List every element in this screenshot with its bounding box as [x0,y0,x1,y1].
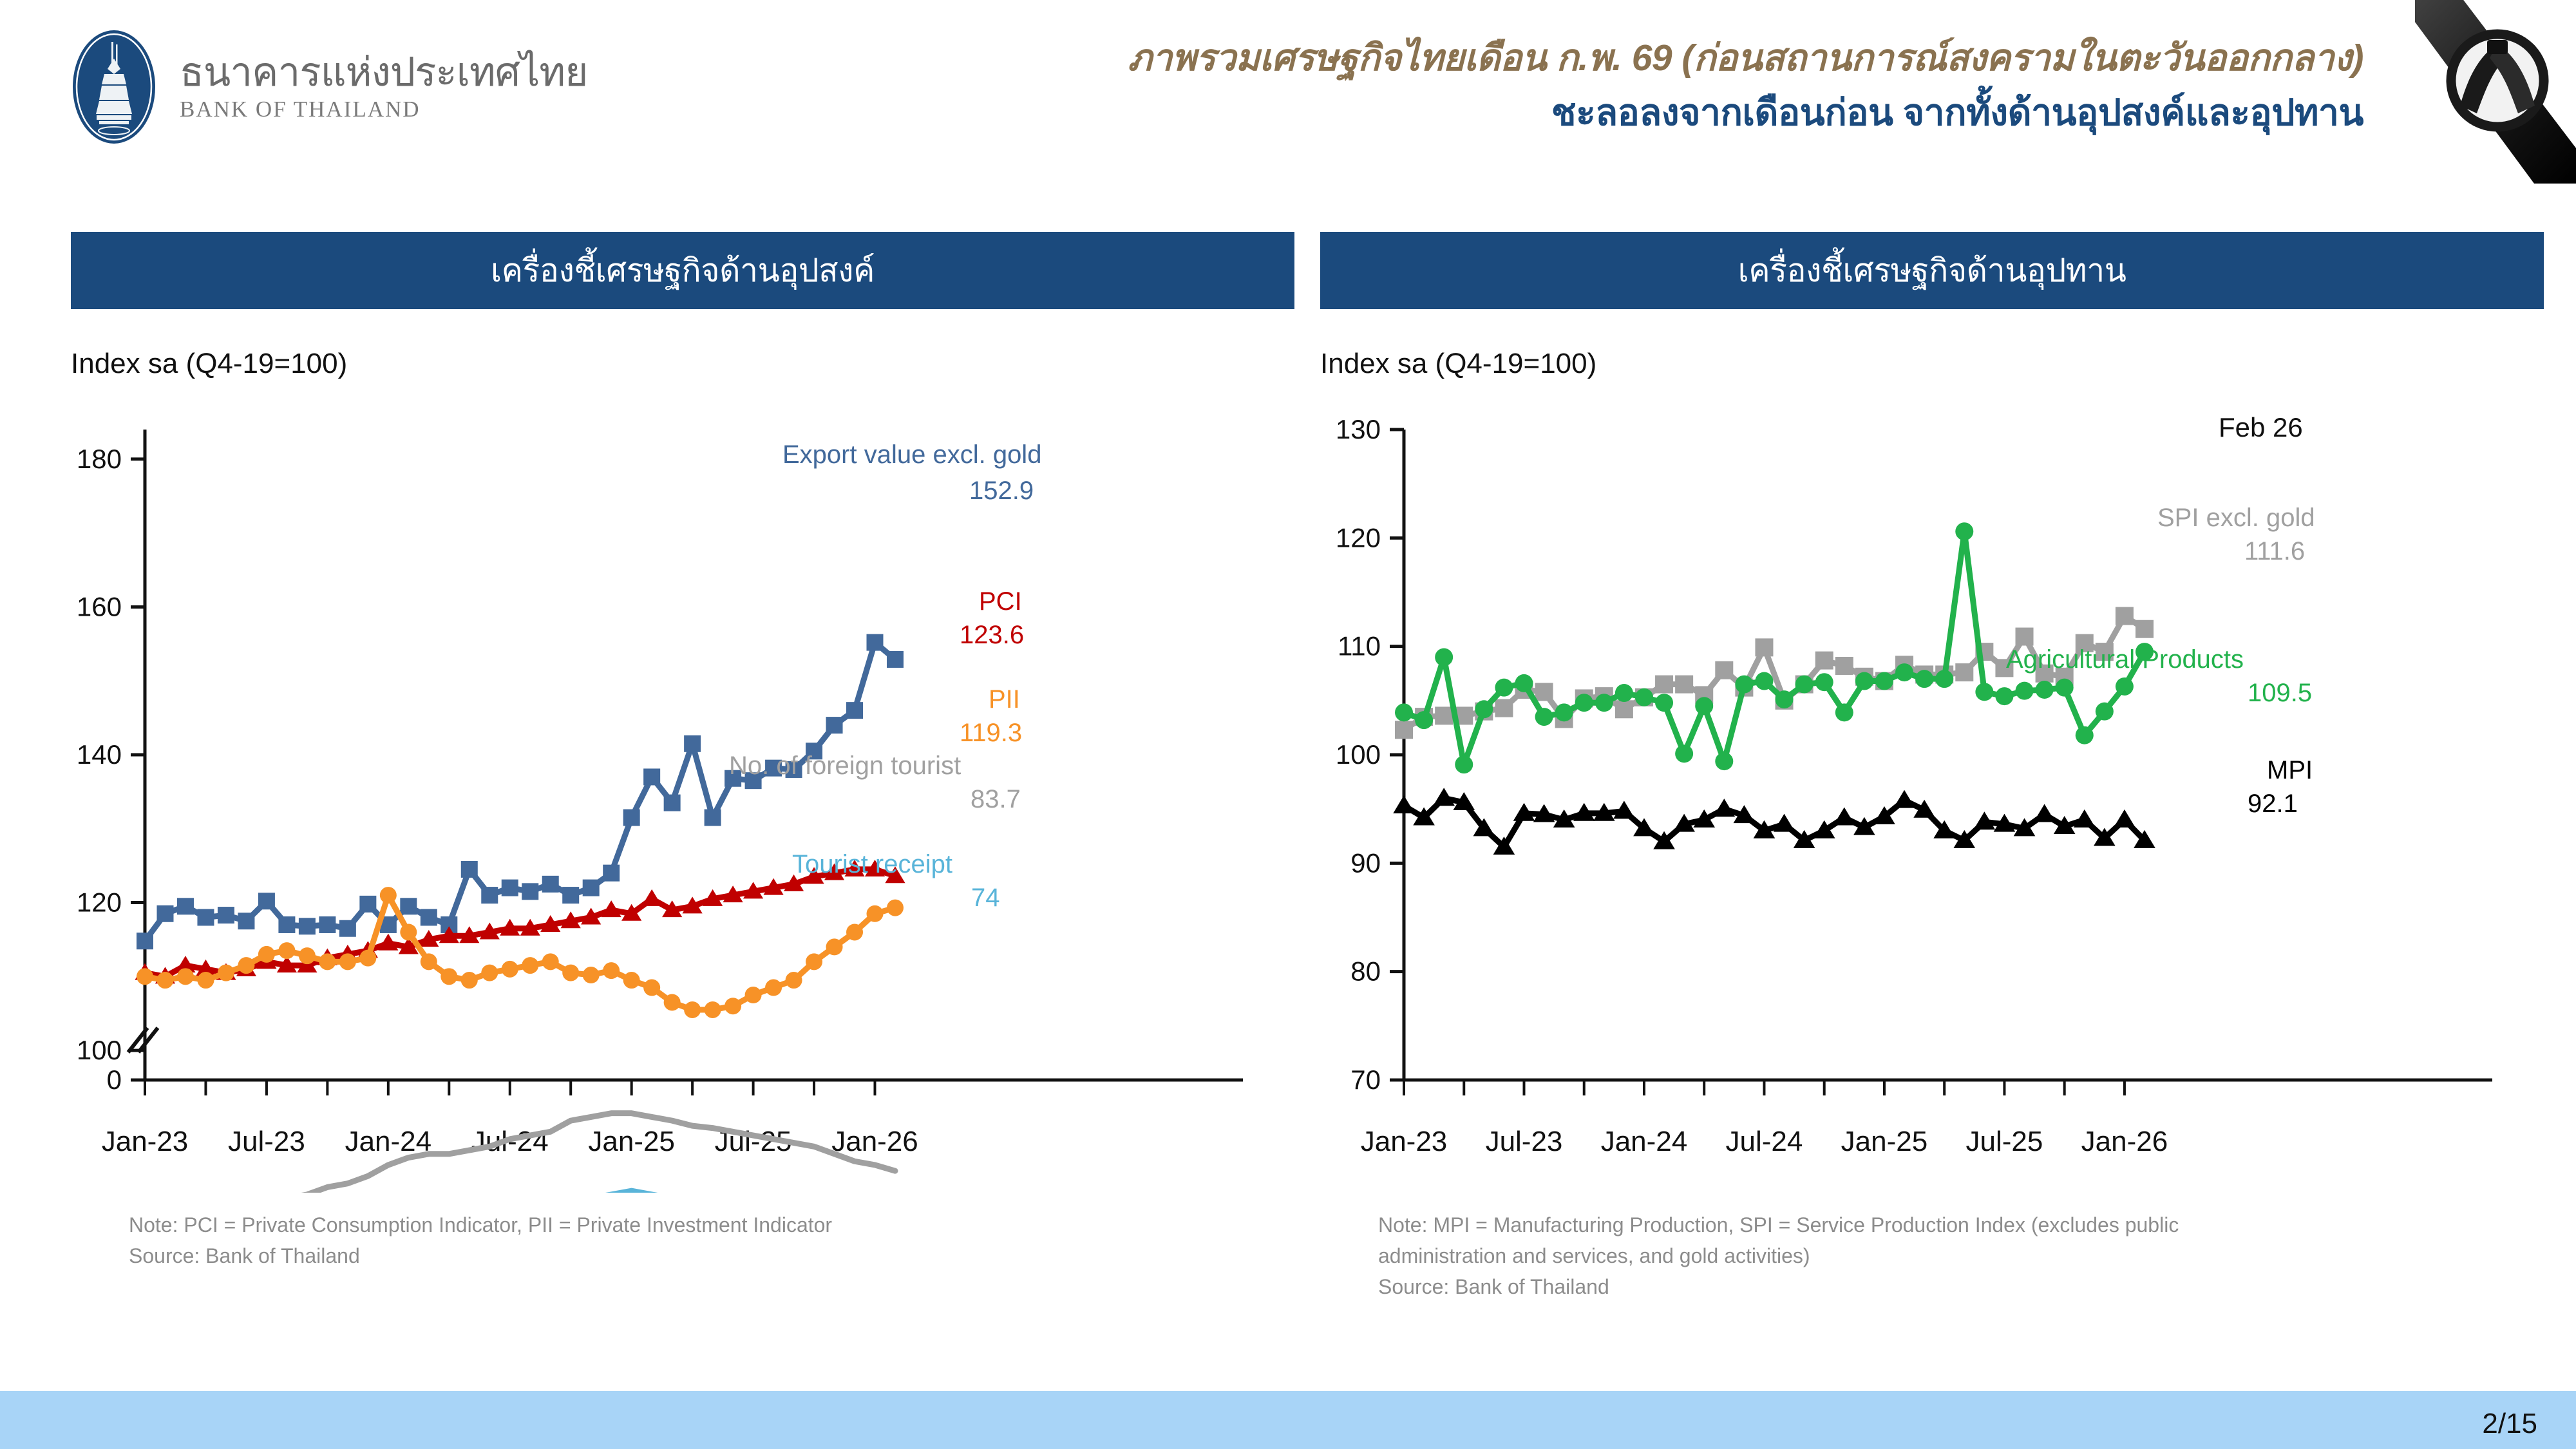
source-line: Source: Bank of Thailand [129,1240,1294,1271]
axis-unit-supply: Index sa (Q4-19=100) [1320,348,2544,380]
series-value-tourist-count: 83.7 [971,785,1021,814]
page-header: ธนาคารแห่งประเทศไทย BANK OF THAILAND ภาพ… [0,0,2576,193]
svg-text:180: 180 [77,444,122,474]
panel-banner-demand: เครื่องชี้เศรษฐกิจด้านอุปสงค์ [71,232,1294,309]
bank-of-thailand-seal-icon [71,29,158,145]
axis-unit-demand: Index sa (Q4-19=100) [71,348,1294,380]
svg-text:Jul-23: Jul-23 [228,1126,305,1157]
svg-text:Jan-24: Jan-24 [345,1126,432,1157]
title-line-1: ภาพรวมเศรษฐกิจไทยเดือน ก.พ. 69 (ก่อนสถาน… [753,35,2363,81]
panel-demand-side: เครื่องชี้เศรษฐกิจด้านอุปสงค์ Index sa (… [71,232,1294,1391]
panel-supply-side: เครื่องชี้เศรษฐกิจด้านอุปทาน Index sa (Q… [1320,232,2544,1391]
svg-text:110: 110 [1338,631,1381,661]
svg-text:100: 100 [1336,739,1381,770]
page-number: 2/15 [2482,1408,2537,1440]
svg-text:90: 90 [1350,848,1381,878]
svg-text:Jan-24: Jan-24 [1601,1126,1688,1157]
notes-supply: Note: MPI = Manufacturing Production, SP… [1378,1209,2544,1302]
series-label-pii: PII [989,685,1020,714]
notes-demand: Note: PCI = Private Consumption Indicato… [129,1209,1294,1271]
series-value-agri: 109.5 [2248,679,2312,708]
source-line: Source: Bank of Thailand [1378,1271,2544,1302]
note-line: Note: PCI = Private Consumption Indicato… [129,1209,1294,1240]
panel-banner-supply: เครื่องชี้เศรษฐกิจด้านอุปทาน [1320,232,2544,309]
series-value-mpi: 92.1 [2248,790,2298,819]
note-line-cont: administration and services, and gold ac… [1378,1240,2544,1271]
svg-text:0: 0 [107,1065,122,1095]
svg-text:130: 130 [1336,414,1381,444]
svg-text:Jul-23: Jul-23 [1486,1126,1563,1157]
svg-text:160: 160 [77,591,122,621]
svg-text:100: 100 [77,1035,122,1065]
svg-text:140: 140 [77,739,122,770]
series-value-pci: 123.6 [960,621,1024,650]
svg-text:Jan-23: Jan-23 [1361,1126,1448,1157]
svg-text:120: 120 [77,887,122,918]
latest-period-supply: Feb 26 [2219,412,2303,443]
svg-text:120: 120 [1336,522,1381,553]
note-line: Note: MPI = Manufacturing Production, SP… [1378,1209,2544,1240]
svg-text:Jan-25: Jan-25 [1841,1126,1928,1157]
series-value-export: 152.9 [969,477,1034,506]
chart-supply-side: 708090100110120130Jan-23Jul-23Jan-24Jul-… [1320,394,2505,1193]
svg-text:Jul-25: Jul-25 [1966,1126,2043,1157]
svg-text:70: 70 [1350,1065,1381,1095]
logo-thai-text: ธนาคารแห่งประเทศไทย [180,52,587,93]
svg-text:Jan-26: Jan-26 [831,1126,918,1157]
footer-bar: 2/15 [0,1391,2576,1449]
svg-text:80: 80 [1350,956,1381,987]
series-label-export: Export value excl. gold [782,440,1041,469]
bank-logo: ธนาคารแห่งประเทศไทย BANK OF THAILAND [71,29,587,145]
svg-text:Jan-23: Jan-23 [102,1126,189,1157]
series-label-agri: Agricultural Products [2006,645,2244,674]
series-value-spi: 111.6 [2244,537,2305,566]
series-label-tourist-count: No. of foreign tourist [729,752,961,781]
title-line-2: ชะลอลงจากเดือนก่อน จากทั้งด้านอุปสงค์และ… [753,90,2363,136]
svg-text:Jan-25: Jan-25 [588,1126,675,1157]
series-value-tourist-receipt: 74 [971,884,1000,913]
series-label-mpi: MPI [2267,756,2313,785]
mourning-ribbon-icon [2415,0,2576,184]
chart-demand-side: 0100120140160180Jan-23Jul-23Jan-24Jul-24… [71,394,1256,1193]
series-label-spi: SPI excl. gold [2157,504,2315,533]
slide-title: ภาพรวมเศรษฐกิจไทยเดือน ก.พ. 69 (ก่อนสถาน… [753,35,2363,137]
svg-text:Jan-26: Jan-26 [2081,1126,2168,1157]
series-value-pii: 119.3 [960,719,1022,748]
series-label-pci: PCI [979,587,1022,616]
series-label-tourist-receipt: Tourist receipt [792,850,952,879]
svg-text:Jul-24: Jul-24 [1726,1126,1803,1157]
logo-english-text: BANK OF THAILAND [180,97,587,122]
